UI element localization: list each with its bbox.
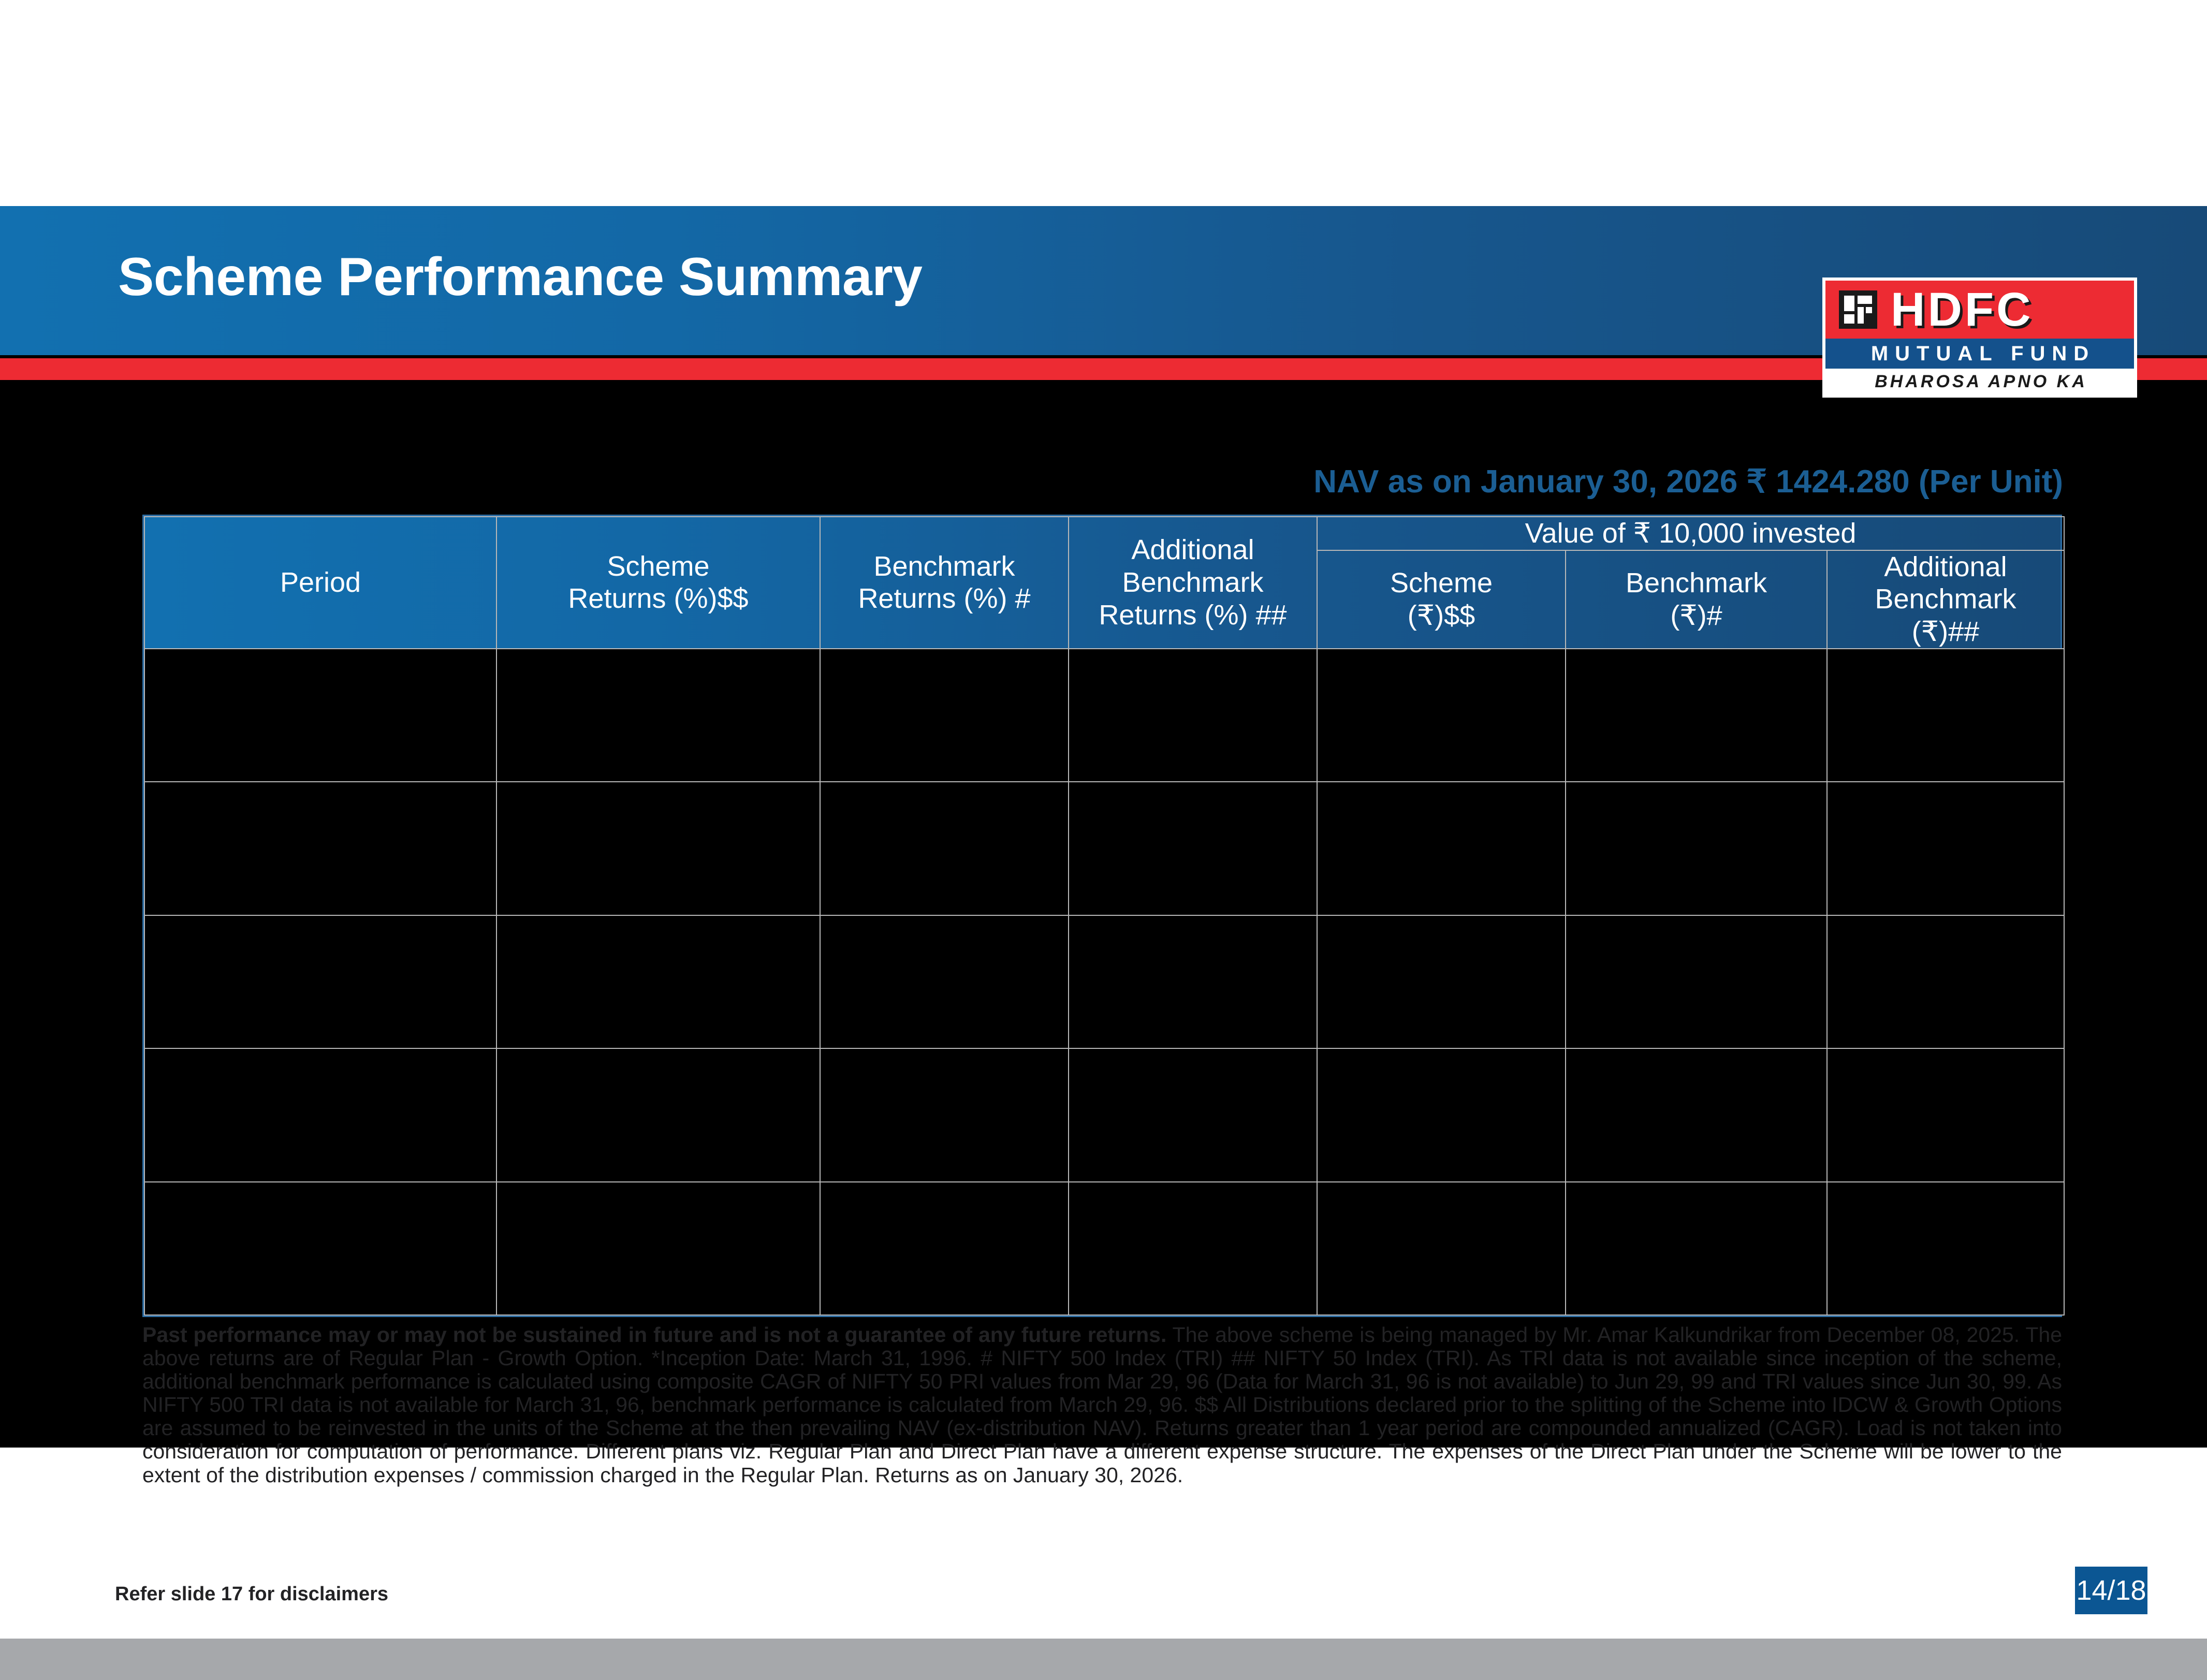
page-title: Scheme Performance Summary [118,246,923,308]
refer-slide-note: Refer slide 17 for disclaimers [115,1583,388,1605]
column-header-scheme-returns-line2: Returns (%)$$ [497,582,820,615]
column-header-value-scheme-line1: Scheme [1318,567,1565,600]
logo-subbrand-row: MUTUAL FUND [1825,339,2134,369]
table-header-row-top: Period Scheme Returns (%)$$ Benchmark Re… [144,517,2064,550]
table-cell [820,649,1069,782]
table-body [144,649,2064,1316]
column-header-benchmark-returns: Benchmark Returns (%) # [820,517,1069,649]
table-cell [820,782,1069,915]
table-cell [144,915,496,1049]
column-header-period: Period [144,517,496,649]
table-row [144,649,2064,782]
column-header-value-scheme-line2: (₹)$$ [1318,600,1565,632]
disclaimer-bold-lead: Past performance may or may not be susta… [142,1323,1166,1347]
column-header-scheme-returns-line1: Scheme [497,550,820,583]
table-cell [496,649,820,782]
table-cell [1069,649,1317,782]
logo-mutual-fund-text: MUTUAL FUND [1864,342,2095,366]
logo-brand-text: HDFC [1891,288,2034,332]
table-cell [1566,1048,1827,1182]
column-header-benchmark-returns-line2: Returns (%) # [821,582,1068,615]
page-number-badge: 14/18 [2075,1567,2147,1614]
column-header-value-benchmark: Benchmark (₹)# [1566,550,1827,649]
hdfc-square-mark-icon [1839,290,1877,329]
table-cell [496,1048,820,1182]
table-row [144,1182,2064,1316]
scheme-performance-table: Period Scheme Returns (%)$$ Benchmark Re… [142,515,2062,1317]
column-header-additional-benchmark-returns: Additional Benchmark Returns (%) ## [1069,517,1317,649]
table-row [144,782,2064,915]
table-cell [1827,649,2064,782]
column-header-value-additional-benchmark: Additional Benchmark (₹)## [1827,550,2064,649]
hdfc-mutual-fund-logo: HDFC MUTUAL FUND BHAROSA APNO KA [1822,277,2137,398]
column-header-add-benchmark-returns-line3: Returns (%) ## [1069,599,1317,632]
column-header-add-benchmark-returns-line1: Additional [1069,534,1317,566]
table-cell [1317,649,1566,782]
table-cell [820,1048,1069,1182]
disclaimer-body: The above scheme is being managed by Mr.… [142,1323,2062,1487]
table-cell [1827,1182,2064,1316]
table-cell [820,1182,1069,1316]
table-cell [496,1182,820,1316]
table-cell [820,915,1069,1049]
column-header-value-scheme: Scheme (₹)$$ [1317,550,1566,649]
logo-brand-row: HDFC [1825,281,2134,339]
column-header-value-add-benchmark-line3: (₹)## [1828,616,2064,648]
table-cell [1317,1048,1566,1182]
table-cell [1827,915,2064,1049]
table-cell [1317,782,1566,915]
table-row [144,915,2064,1049]
table-cell [1566,649,1827,782]
column-header-value-add-benchmark-line1: Additional [1828,551,2064,583]
column-header-value-benchmark-line2: (₹)# [1566,600,1826,632]
table-cell [144,649,496,782]
table-cell [1069,1182,1317,1316]
table-cell [1069,1048,1317,1182]
table-cell [1317,1182,1566,1316]
disclaimer-text: Past performance may or may not be susta… [142,1323,2062,1487]
table-cell [1069,782,1317,915]
column-header-value-add-benchmark-line2: Benchmark [1828,583,2064,616]
column-header-value-benchmark-line1: Benchmark [1566,567,1826,600]
table-cell [144,782,496,915]
table-cell [1827,782,2064,915]
table-cell [1566,1182,1827,1316]
table-cell [496,915,820,1049]
table-cell [144,1182,496,1316]
table-cell [144,1048,496,1182]
table-cell [1566,782,1827,915]
column-header-benchmark-returns-line1: Benchmark [821,550,1068,583]
slide-footer-grey-bar [0,1639,2207,1680]
logo-tagline-text: BHAROSA APNO KA [1872,372,2087,392]
slide-canvas: Scheme Performance Summary HDFC MUTUAL F… [0,206,2207,1448]
column-group-header-value-invested: Value of ₹ 10,000 invested [1317,517,2064,550]
table-cell [496,782,820,915]
table-cell [1317,915,1566,1049]
table-row [144,1048,2064,1182]
logo-tagline-row: BHAROSA APNO KA [1825,369,2134,395]
table-cell [1827,1048,2064,1182]
column-header-scheme-returns: Scheme Returns (%)$$ [496,517,820,649]
nav-as-on-label: NAV as on January 30, 2026 ₹ 1424.280 (P… [0,462,2063,500]
table-cell [1069,915,1317,1049]
table-cell [1566,915,1827,1049]
column-header-add-benchmark-returns-line2: Benchmark [1069,566,1317,599]
